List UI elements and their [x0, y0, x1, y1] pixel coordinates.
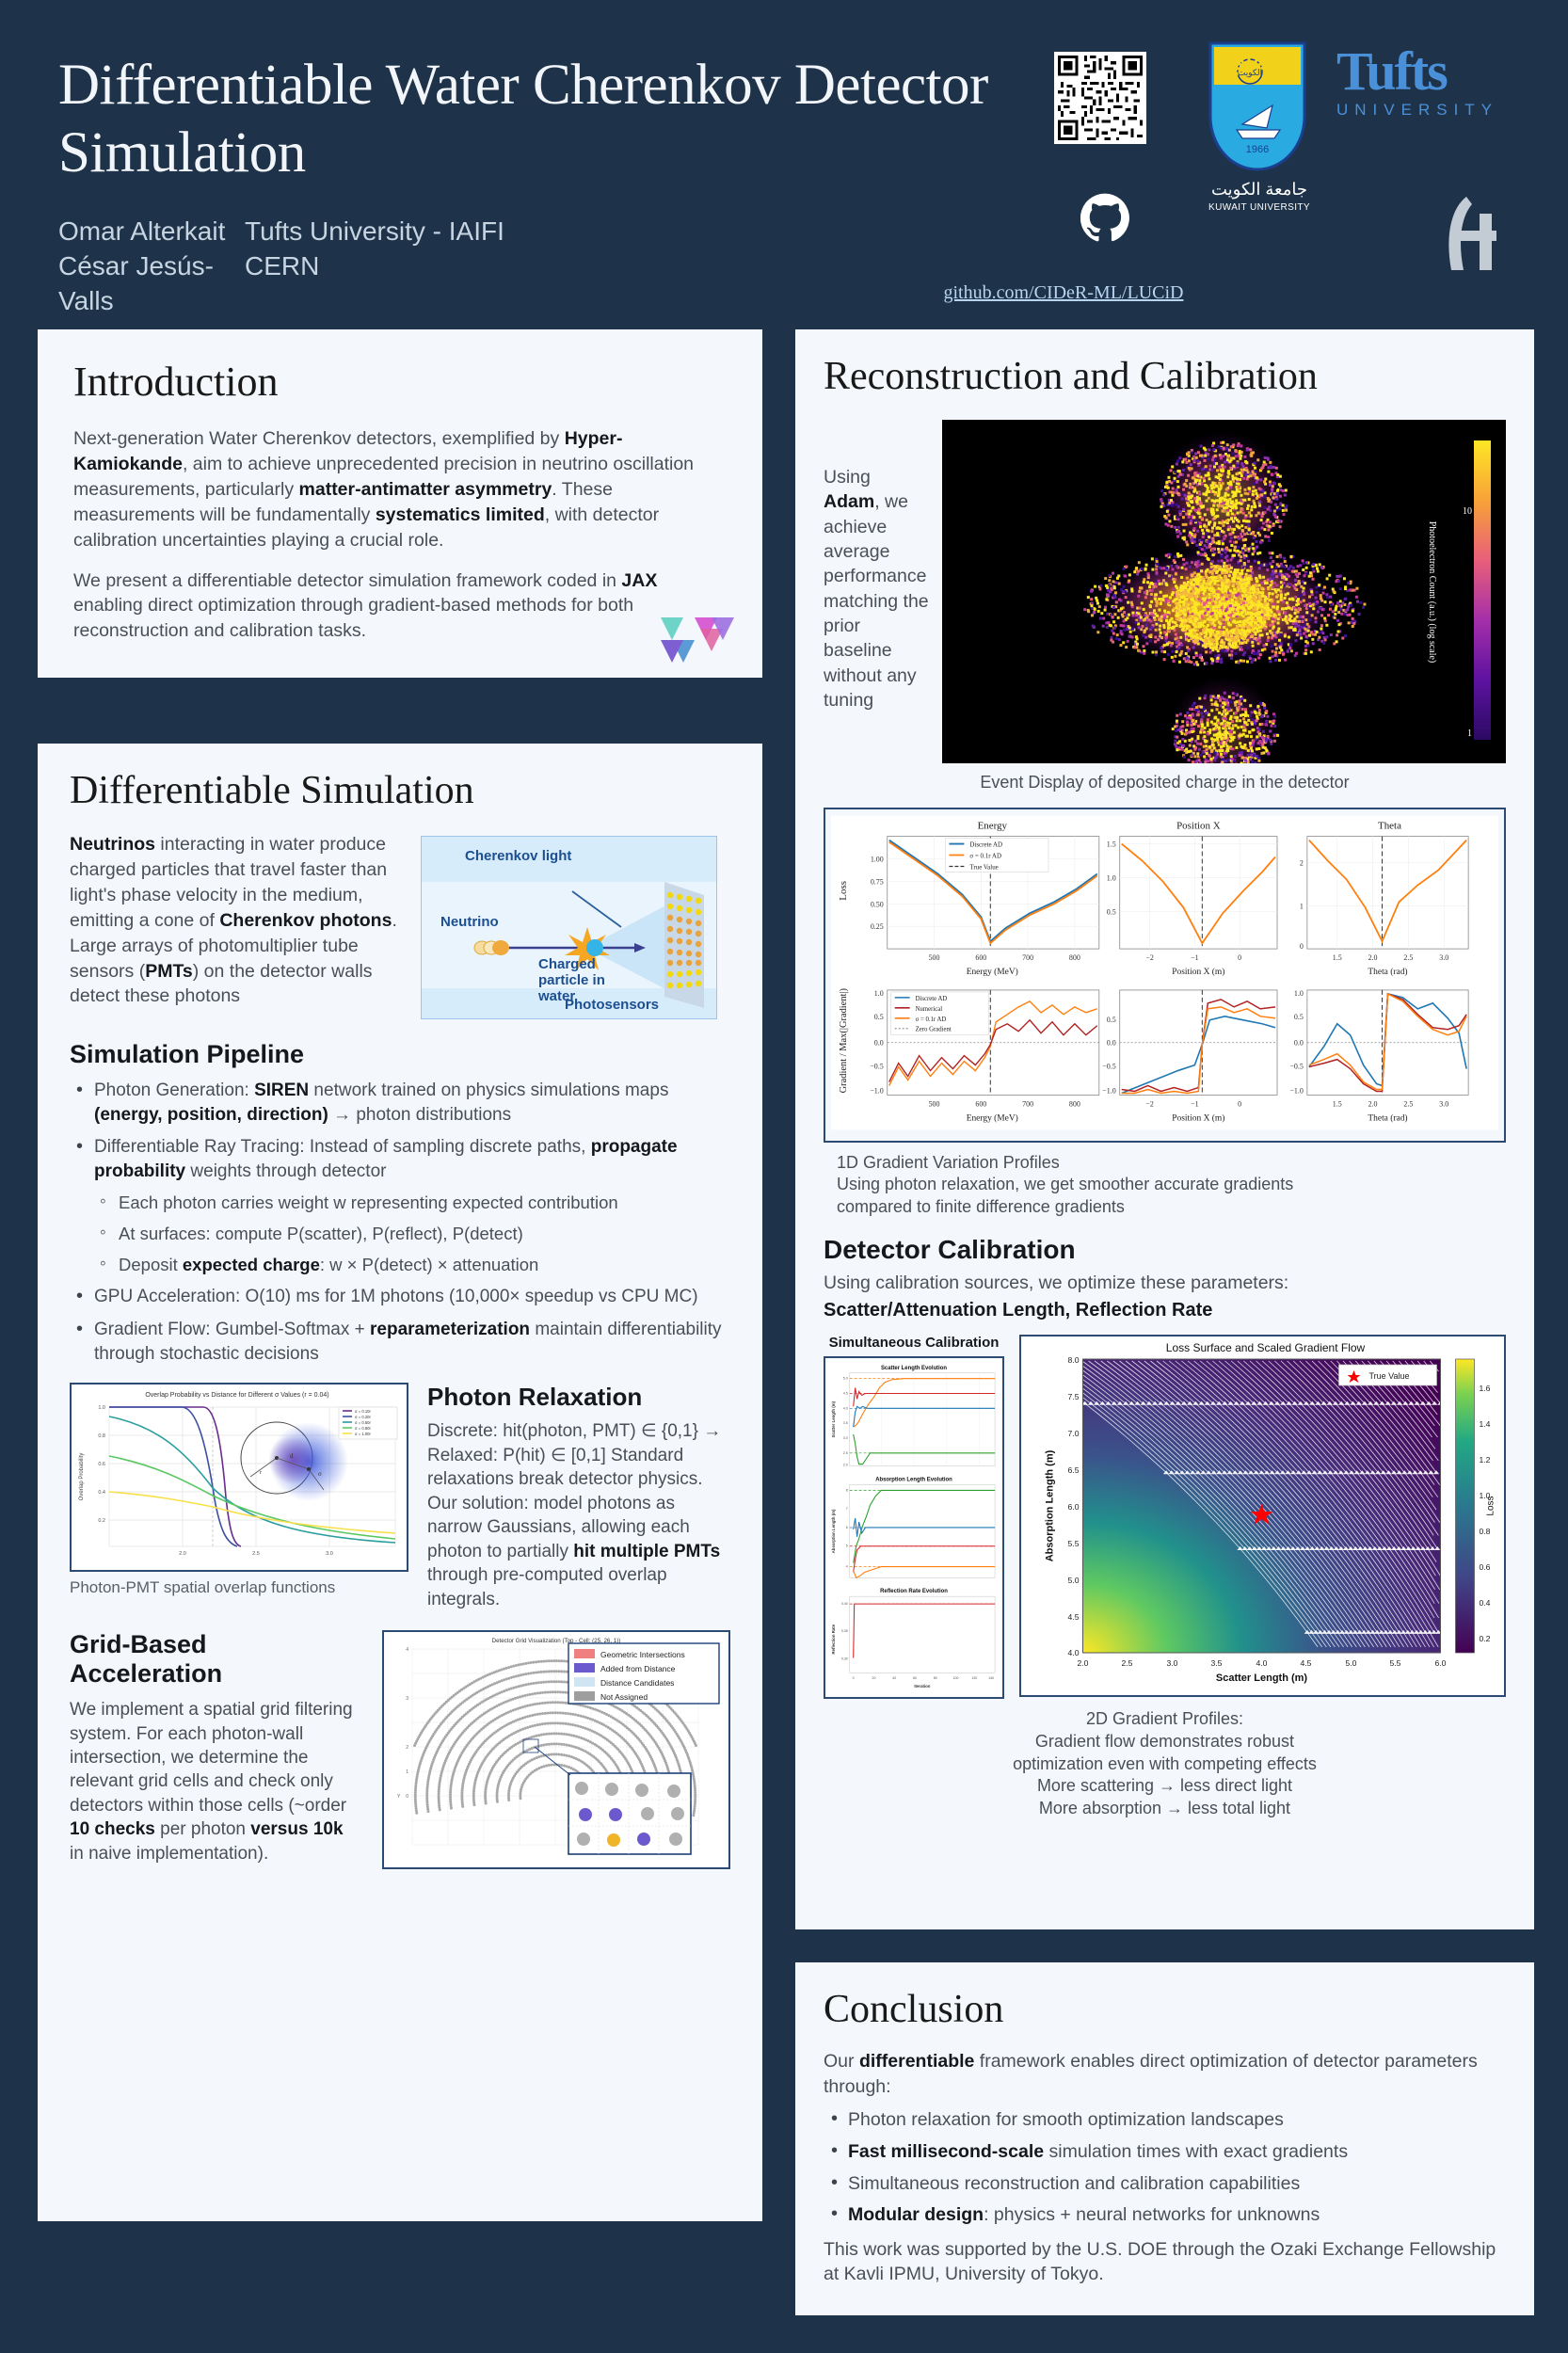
- poster-header: Differentiable Water Cherenkov Detector …: [0, 0, 1568, 311]
- pipeline-item-gpu: GPU Acceleration: O(10) ms for 1M photon…: [70, 1285, 730, 1309]
- grid-text-e: in naive implementation).: [70, 1844, 268, 1864]
- svg-text:0: 0: [406, 1794, 408, 1800]
- differentiable-simulation-panel: Differentiable Simulation Neutrinos inte…: [38, 744, 762, 2221]
- gradient-profiles-caption: 1D Gradient Variation Profiles Using pho…: [824, 1152, 1506, 1218]
- overlap-figure-caption: Photon-PMT spatial overlap functions: [70, 1577, 408, 1597]
- svg-text:r: r: [260, 1470, 262, 1476]
- pipe1-pre: Differentiable Ray Tracing: Instead of s…: [94, 1137, 591, 1157]
- cb2-pre: Simultaneous reconstruction and calibrat…: [848, 2173, 1300, 2194]
- sub0-pre: Each photon carries weight w representin…: [119, 1193, 618, 1212]
- conclusion-bullet-modular: Modular design: physics + neural network…: [824, 2203, 1506, 2228]
- sub2-pre: Deposit: [119, 1255, 183, 1274]
- simultaneous-calibration-chart: Scatter Length Evolution 5.04.: [824, 1356, 1004, 1699]
- loss-surface-block: Loss Surface and Scaled Gradient Flow: [1019, 1335, 1506, 1699]
- colorbar-label: Photoelectron Count (a.u.) (log scale): [1427, 520, 1437, 663]
- conclusion-panel: Conclusion Our differentiable framework …: [795, 1962, 1534, 2315]
- kuwait-year-label: 1966: [1246, 144, 1269, 155]
- overlap-probability-chart: Overlap Probability vs Distance for Diff…: [70, 1383, 408, 1572]
- kuwait-university-caption: جامعة الكويت KUWAIT UNIVERSITY: [1203, 181, 1316, 213]
- svg-text:0.2: 0.2: [98, 1518, 105, 1524]
- calibration-description: Using calibration sources, we optimize t…: [824, 1273, 1506, 1294]
- svg-text:d: d: [290, 1452, 294, 1460]
- reconstruction-calibration-panel: Reconstruction and Calibration Using Ada…: [795, 329, 1534, 1929]
- pipeline-subitem-surfaces: At surfaces: compute P(scatter), P(refle…: [94, 1223, 730, 1246]
- svg-text:Distance Candidates: Distance Candidates: [600, 1678, 674, 1688]
- cb3-bold: Modular design: [848, 2204, 984, 2225]
- conclusion-bullet-list: Photon relaxation for smooth optimizatio…: [824, 2108, 1506, 2228]
- svg-text:Overlap Probability vs Distanc: Overlap Probability vs Distance for Diff…: [145, 1392, 328, 1399]
- author-name: Omar Alterkait: [58, 215, 245, 249]
- grad-cap-line3: compared to finite difference gradients: [837, 1196, 1506, 1218]
- intro-bold-asymmetry: matter-antimatter asymmetry: [299, 479, 552, 500]
- page-title: Differentiable Water Cherenkov Detector …: [58, 52, 1018, 187]
- concl-text-a: Our: [824, 2051, 859, 2072]
- calibration-figure-caption: 2D Gradient Profiles: Gradient flow demo…: [824, 1708, 1506, 1820]
- concl-bold-diff: differentiable: [859, 2051, 974, 2072]
- svg-text:الكويت: الكويت: [1238, 68, 1262, 78]
- svg-text:σ = 0.80r: σ = 0.80r: [355, 1426, 372, 1431]
- ds-bold-cherenkov: Cherenkov photons: [219, 910, 392, 931]
- photon-relaxation-paragraph: Discrete: hit(photon, PMT) ∈ {0,1} → Rel…: [427, 1419, 730, 1611]
- cherenkov-light-diagram: Cherenkov light Neutrino Charged particl…: [421, 836, 717, 1019]
- tufts-subtitle: UNIVERSITY: [1336, 101, 1544, 120]
- relax-text-a: Discrete: hit(photon, PMT) ∈ {0,1} → Rel…: [427, 1421, 721, 1561]
- grad-cap-line2: Using photon relaxation, we get smoother…: [837, 1174, 1506, 1195]
- conclusion-title: Conclusion: [824, 1987, 1506, 2032]
- svg-text:σ = 1.00r: σ = 1.00r: [355, 1432, 372, 1436]
- colorbar-tick-top: 10: [1463, 506, 1472, 517]
- event-display-caption: Event Display of deposited charge in the…: [824, 773, 1506, 792]
- svg-text:0.6: 0.6: [98, 1462, 105, 1467]
- pipeline-item-ray-tracing: Differentiable Ray Tracing: Instead of s…: [70, 1135, 730, 1276]
- calib-cap-line1: 2D Gradient Profiles:: [824, 1708, 1506, 1731]
- diffsim-intro-paragraph: Neutrinos interacting in water produce c…: [70, 832, 404, 1009]
- svg-text:Added from Distance: Added from Distance: [600, 1664, 676, 1673]
- detector-calibration-heading: Detector Calibration: [824, 1235, 1506, 1265]
- pipeline-subitem-charge: Deposit expected charge: w × P(detect) ×…: [94, 1254, 730, 1277]
- calib-cap-line2: Gradient flow demonstrates robust: [824, 1731, 1506, 1753]
- pipeline-sublist: Each photon carries weight w representin…: [94, 1192, 730, 1277]
- ds-bold-pmts: PMTs: [145, 961, 193, 982]
- iaifi-logo: [1438, 193, 1513, 274]
- svg-text:σ = 0.10r: σ = 0.10r: [355, 1409, 372, 1414]
- introduction-paragraph-2: We present a differentiable detector sim…: [73, 568, 727, 645]
- pipe3-bold-reparam: reparameterization: [370, 1320, 530, 1339]
- github-repo-link[interactable]: github.com/CIDeR-ML/LUCiD: [866, 282, 1261, 304]
- intro2-bold-jax: JAX: [621, 570, 657, 591]
- svg-text:4: 4: [406, 1647, 408, 1653]
- svg-text:2.0: 2.0: [179, 1551, 186, 1557]
- pipe0-bold-siren: SIREN: [254, 1080, 309, 1100]
- cb3-post: : physics + neural networks for unknowns: [984, 2204, 1320, 2225]
- svg-text:0.8: 0.8: [98, 1433, 105, 1439]
- intro-bold-systematics: systematics limited: [376, 504, 545, 525]
- cb1-post: simulation times with exact gradients: [1044, 2141, 1348, 2162]
- svg-text:σ = 0.20r: σ = 0.20r: [355, 1415, 372, 1419]
- svg-text:0.4: 0.4: [98, 1490, 105, 1496]
- simulation-pipeline-heading: Simulation Pipeline: [70, 1040, 730, 1069]
- cherenkov-light-label: Cherenkov light: [465, 848, 571, 864]
- svg-text:σ: σ: [318, 1470, 322, 1478]
- differentiable-simulation-title: Differentiable Simulation: [70, 768, 730, 813]
- author-affiliation: Tufts University - IAIFI: [245, 215, 504, 249]
- pipe0-bold-inputs: (energy, position, direction): [94, 1105, 328, 1125]
- ds-bold-neutrinos: Neutrinos: [70, 834, 155, 855]
- svg-text:3: 3: [406, 1696, 408, 1702]
- funding-statement: This work was supported by the U.S. DOE …: [824, 2237, 1506, 2287]
- pipeline-item-gradient-flow: Gradient Flow: Gumbel-Softmax + reparame…: [70, 1318, 730, 1366]
- simultaneous-calibration-block: Simultaneous Calibration Scatter Length …: [824, 1335, 1004, 1699]
- pipe0-post: → photon distributions: [328, 1105, 511, 1125]
- pipeline-item-photon-generation: Photon Generation: SIREN network trained…: [70, 1079, 730, 1127]
- pipe1-mid: weights through detector: [185, 1161, 386, 1181]
- relax-bold-hit: hit multiple PMTs: [573, 1542, 720, 1561]
- simultaneous-calibration-title: Simultaneous Calibration: [824, 1335, 1004, 1351]
- conclusion-bullet-speed: Fast millisecond-scale simulation times …: [824, 2140, 1506, 2165]
- calibration-parameters: Scatter/Attenuation Length, Reflection R…: [824, 1300, 1506, 1321]
- kuwait-english-label: KUWAIT UNIVERSITY: [1203, 202, 1316, 213]
- svg-text:Not Assigned: Not Assigned: [600, 1692, 648, 1702]
- grid-acceleration-paragraph: We implement a spatial grid filtering sy…: [70, 1698, 361, 1865]
- kuwait-university-logo: الكويت 1966: [1205, 38, 1310, 174]
- pipeline-subitem-weight: Each photon carries weight w representin…: [94, 1192, 730, 1215]
- svg-text:σ = 0.50r: σ = 0.50r: [355, 1420, 372, 1425]
- pipe2-pre: GPU Acceleration: O(10) ms for 1M photon…: [94, 1287, 698, 1306]
- svg-text:1.0: 1.0: [98, 1405, 105, 1411]
- intro2-text-a: We present a differentiable detector sim…: [73, 570, 621, 591]
- sub2-post: : w × P(detect) × attenuation: [320, 1255, 538, 1274]
- svg-text:1: 1: [406, 1769, 408, 1775]
- svg-text:Geometric Intersections: Geometric Intersections: [600, 1650, 685, 1659]
- colorbar-tick-bottom: 1: [1467, 728, 1472, 739]
- introduction-paragraph-1: Next-generation Water Cherenkov detector…: [73, 426, 727, 553]
- cb0-pre: Photon relaxation for smooth optimizatio…: [848, 2109, 1284, 2130]
- jax-logo: [644, 602, 745, 670]
- photon-relaxation-heading: Photon Relaxation: [427, 1383, 730, 1412]
- conclusion-bullet-simultaneous: Simultaneous reconstruction and calibrat…: [824, 2172, 1506, 2197]
- relax-text-c: through pre-computed overlap integrals.: [427, 1565, 667, 1609]
- author-row: Omar Alterkait Tufts University - IAIFI: [58, 215, 504, 249]
- calib-cap-line5: More absorption → less total light: [824, 1798, 1506, 1820]
- adam-text-a: Using: [824, 467, 871, 488]
- conclusion-lead: Our differentiable framework enables dir…: [824, 2049, 1506, 2099]
- author-name: César Jesús-Valls: [58, 249, 245, 319]
- calib-cap-line4: More scattering → less direct light: [824, 1775, 1506, 1798]
- overlap-figure-block: Overlap Probability vs Distance for Diff…: [70, 1383, 408, 1611]
- grid-acceleration-heading: Grid-Based Acceleration: [70, 1630, 361, 1689]
- cb1-bold: Fast millisecond-scale: [848, 2141, 1044, 2162]
- loss-surface-chart: Loss Surface and Scaled Gradient Flow: [1019, 1335, 1506, 1697]
- grad-cap-line1: 1D Gradient Variation Profiles: [837, 1152, 1506, 1174]
- svg-text:Overlap Probability: Overlap Probability: [79, 1453, 85, 1501]
- intro2-text-c: enabling direct optimization through gra…: [73, 595, 633, 641]
- grid-text-a: We implement a spatial grid filtering sy…: [70, 1700, 353, 1816]
- adam-bold: Adam: [824, 491, 874, 512]
- github-icon[interactable]: [1080, 193, 1129, 242]
- conclusion-bullet-relaxation: Photon relaxation for smooth optimizatio…: [824, 2108, 1506, 2133]
- introduction-panel: Introduction Next-generation Water Chere…: [38, 329, 762, 678]
- pipe0-mid: network trained on physics simulations m…: [309, 1080, 668, 1100]
- qr-code-icon[interactable]: [1054, 52, 1146, 144]
- simulation-pipeline-list: Photon Generation: SIREN network trained…: [70, 1079, 730, 1366]
- reconstruction-title: Reconstruction and Calibration: [824, 354, 1506, 399]
- author-affiliation: CERN: [245, 249, 319, 319]
- grid-bold-10checks: 10 checks: [70, 1819, 155, 1839]
- svg-text:3.0: 3.0: [326, 1551, 333, 1557]
- adam-description: Using Adam, we achieve average performan…: [824, 420, 929, 763]
- gradient-profiles-chart: EnergyPosition XTheta Loss Gradient / Ma…: [824, 808, 1506, 1143]
- introduction-title: Introduction: [73, 358, 727, 406]
- event-display-image: 10 1 Photoelectron Count (a.u.) (log sca…: [942, 420, 1506, 763]
- author-list: Omar Alterkait Tufts University - IAIFI …: [58, 215, 504, 319]
- grid-text-c: per photon: [155, 1819, 250, 1839]
- detector-grid-visualization-chart: Detector Grid Visualization (Top - Cell:…: [382, 1630, 730, 1869]
- intro-text-a: Next-generation Water Cherenkov detector…: [73, 428, 565, 449]
- sub2-bold: expected charge: [183, 1255, 320, 1274]
- svg-text:2: 2: [406, 1745, 408, 1751]
- calib-cap-line3: optimization even with competing effects: [824, 1753, 1506, 1776]
- svg-text:2.5: 2.5: [252, 1551, 260, 1557]
- grid-bold-versus10k: versus 10k: [250, 1819, 343, 1839]
- photosensors-label: Photosensors: [565, 997, 659, 1013]
- author-row: César Jesús-Valls CERN: [58, 249, 504, 319]
- sub1-pre: At surfaces: compute P(scatter), P(refle…: [119, 1224, 523, 1243]
- tufts-university-logo: Tufts UNIVERSITY: [1336, 45, 1544, 130]
- pipe3-pre: Gradient Flow: Gumbel-Softmax +: [94, 1320, 370, 1339]
- tufts-wordmark: Tufts: [1336, 45, 1544, 97]
- pipe0-pre: Photon Generation:: [94, 1080, 254, 1100]
- neutrino-label: Neutrino: [440, 914, 499, 930]
- adam-text-c: , we achieve average performance matchin…: [824, 491, 929, 711]
- kuwait-arabic-label: جامعة الكويت: [1203, 181, 1316, 200]
